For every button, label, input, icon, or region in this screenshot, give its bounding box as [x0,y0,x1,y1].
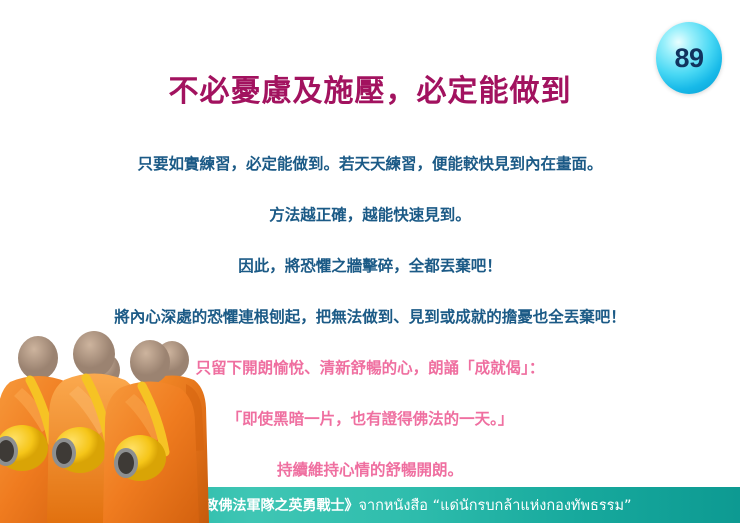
body-line-2: 方法越正確，越能快速見到。 [0,203,740,225]
body-line-3: 因此，將恐懼之牆擊碎，全都丟棄吧！ [0,254,740,276]
presentation-slide: 89 不必憂慮及施壓，必定能做到 只要如實練習，必定能做到。若天天練習，便能較快… [0,0,740,523]
slide-title: 不必憂慮及施壓，必定能做到 [0,66,740,110]
body-line-4: 將內心深處的恐懼連根刨起，把無法做到、見到或成就的擔憂也全丟棄吧！ [0,305,740,327]
page-number-badge: 89 [656,22,722,94]
monks-illustration [0,328,232,523]
page-number-text: 89 [674,45,703,72]
body-line-1: 只要如實練習，必定能做到。若天天練習，便能較快見到內在畫面。 [0,152,740,174]
